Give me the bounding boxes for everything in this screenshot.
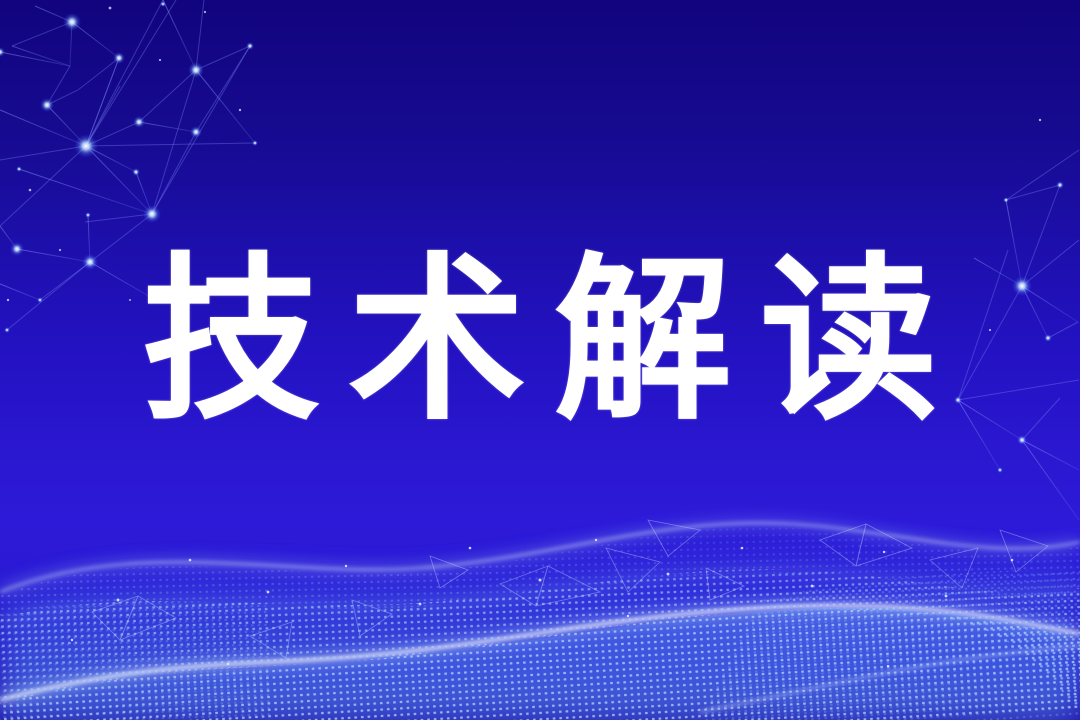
network-mesh-decoration [0, 0, 1080, 720]
page-title: 技术解读 [0, 252, 1080, 430]
particle-dot-field [0, 0, 1080, 720]
banner-canvas: 技术解读 [0, 0, 1080, 720]
spark-specks [71, 539, 1014, 667]
page-title-text: 技术解读 [114, 252, 966, 430]
polygon-shard-decoration [0, 0, 1080, 720]
star-specks [7, 7, 1041, 332]
network-nodes [0, 1, 1064, 473]
title-layer: 技术解读 [0, 0, 1080, 720]
wave-glow-decoration [0, 0, 1080, 720]
